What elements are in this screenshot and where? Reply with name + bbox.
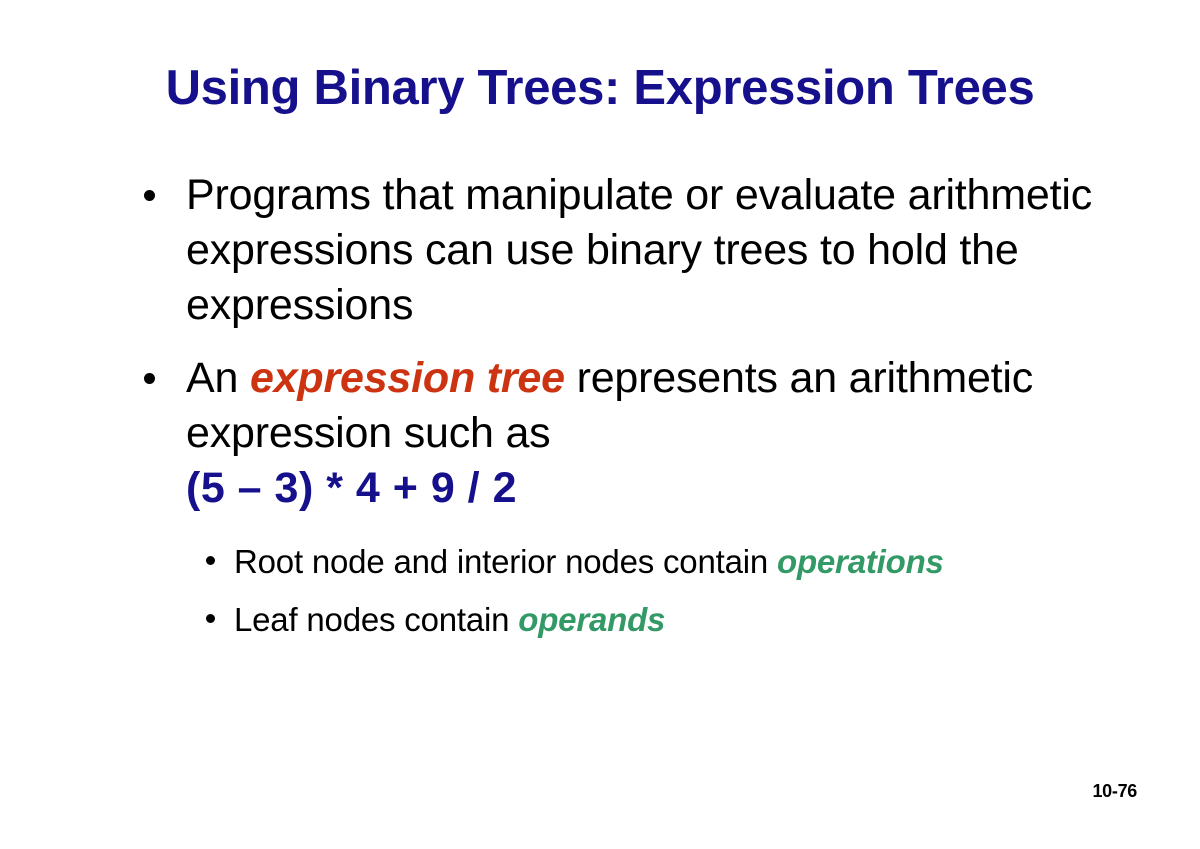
bullet-text-prefix: An [186, 354, 250, 402]
sub-bullet-item-operands: Leaf nodes contain operands [204, 596, 1098, 643]
page-number: 10-76 [1092, 781, 1137, 802]
page-title: Using Binary Trees: Expression Trees [0, 62, 1200, 116]
arithmetic-expression: (5 – 3) * 4 + 9 / 2 [186, 461, 1098, 516]
sub-bullet-list: Root node and interior nodes contain ope… [138, 538, 1098, 643]
emphasis-operands: operands [518, 601, 665, 638]
emphasis-expression-tree: expression tree [250, 354, 565, 402]
bullet-text-programs: Programs that manipulate or evaluate ari… [186, 171, 1092, 329]
emphasis-operations: operations [777, 543, 944, 580]
slide-body: Programs that manipulate or evaluate ari… [138, 168, 1098, 643]
bullet-dot-icon [144, 190, 155, 201]
sub-bullet-text-leaf-nodes: Leaf nodes contain [234, 601, 518, 638]
bullet-item-expression-tree: An expression tree represents an arithme… [138, 351, 1098, 516]
bullet-dot-icon [206, 614, 215, 623]
slide-canvas: Using Binary Trees: Expression Trees Pro… [0, 0, 1200, 849]
bullet-dot-icon [144, 373, 155, 384]
sub-bullet-text-root-nodes: Root node and interior nodes contain [234, 543, 777, 580]
sub-bullet-item-operations: Root node and interior nodes contain ope… [204, 538, 1098, 585]
bullet-dot-icon [206, 556, 215, 565]
bullet-item-programs: Programs that manipulate or evaluate ari… [138, 168, 1098, 333]
